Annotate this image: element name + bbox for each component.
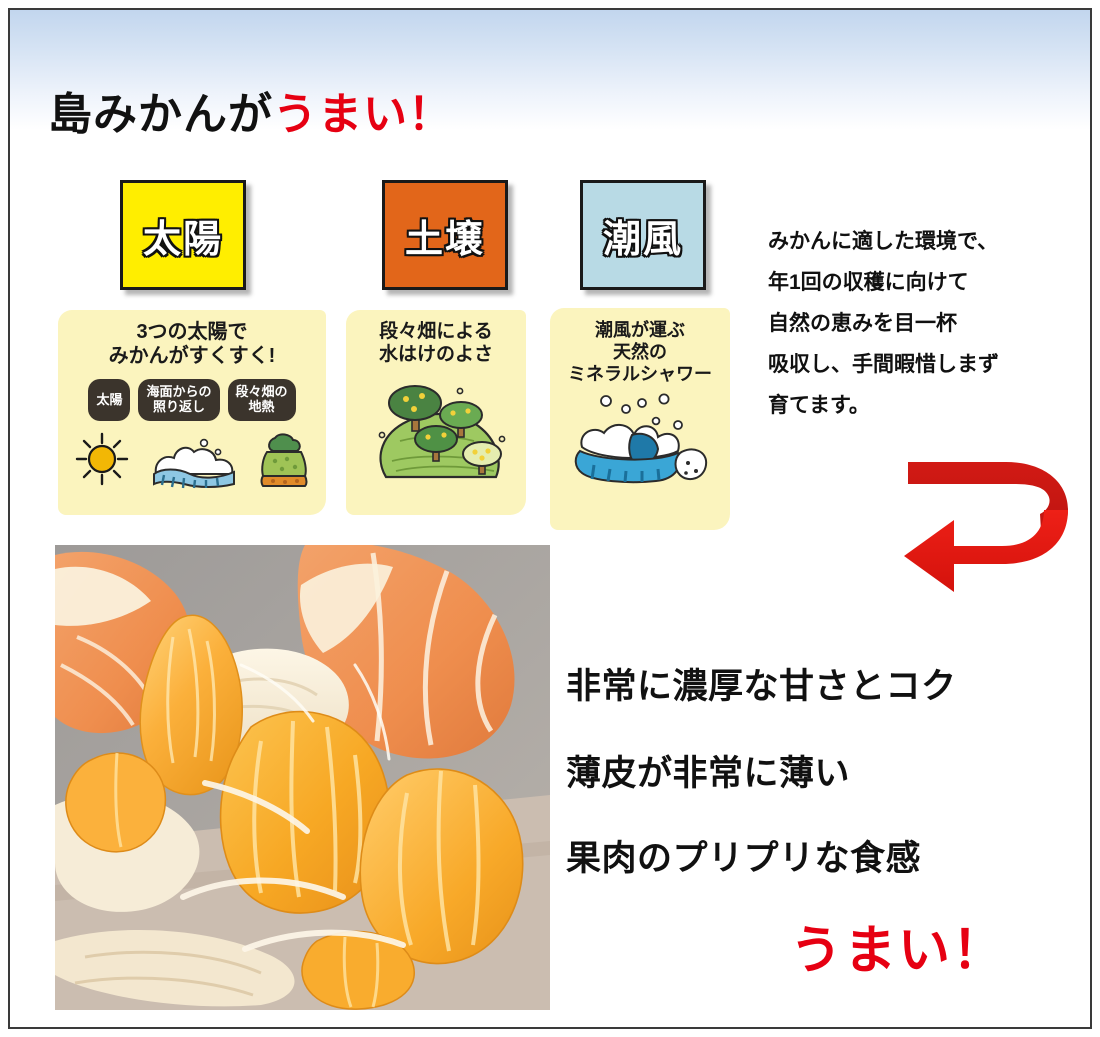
badge-shiokaze: 潮風 <box>580 180 706 290</box>
tagline-umai: うまい！ <box>790 908 1006 983</box>
description-text: みかんに適した環境で、 年1回の収穫に向けて 自然の恵みを目一杯 吸収し、手間暇… <box>768 222 1088 427</box>
wave-icon <box>148 428 240 495</box>
red-curved-arrow-icon <box>902 452 1078 602</box>
feature-line-1: 非常に濃厚な甘さとコク <box>566 658 957 709</box>
terraced-orchard-icon <box>356 365 516 490</box>
badge-taiyo: 太陽 <box>120 180 246 290</box>
icon-row-sun <box>58 429 326 495</box>
page-title: 島みかんがうまい！ <box>48 78 453 142</box>
info-card-soil: 段々畑による 水はけのよさ <box>346 310 526 515</box>
mikan-segments-photo <box>55 545 550 1010</box>
page-title-red: うまい！ <box>273 90 453 139</box>
feature-line-2: 薄皮が非常に薄い <box>566 745 850 796</box>
icon-row-wind <box>550 390 730 500</box>
icon-row-soil <box>346 370 526 490</box>
pill-taiyo: 太陽 <box>88 379 130 421</box>
info-card-sun: 3つの太陽で みかんがすくすく! 太陽 海面からの 照り返し 段々畑の 地熱 <box>58 310 326 515</box>
page-title-black: 島みかんが <box>48 90 273 139</box>
pill-dandanbatake-jinetsu: 段々畑の 地熱 <box>228 379 296 421</box>
info-card-soil-title: 段々畑による 水はけのよさ <box>346 310 526 366</box>
pill-row-sun: 太陽 海面からの 照り返し 段々畑の 地熱 <box>58 379 326 421</box>
feature-line-3: 果肉のプリプリな食感 <box>566 830 921 881</box>
promo-page: 島みかんがうまい！ 太陽 土壌 潮風 3つの太陽で みかんがすくすく! 太陽 海… <box>0 0 1100 1037</box>
page-frame: 島みかんがうまい！ 太陽 土壌 潮風 3つの太陽で みかんがすくすく! 太陽 海… <box>8 8 1092 1029</box>
sea-spray-wave-icon <box>560 385 720 500</box>
badge-dojo: 土壌 <box>382 180 508 290</box>
pill-kaimen-terikaeshi: 海面からの 照り返し <box>138 379 219 421</box>
badge-taiyo-label: 太陽 <box>143 208 223 263</box>
sun-icon <box>71 428 133 495</box>
badge-shiokaze-label: 潮風 <box>603 208 683 263</box>
terraced-field-icon <box>255 428 313 495</box>
info-card-wind: 潮風が運ぶ 天然の ミネラルシャワー <box>550 308 730 530</box>
info-card-wind-title: 潮風が運ぶ 天然の ミネラルシャワー <box>550 308 730 386</box>
info-card-sun-title: 3つの太陽で みかんがすくすく! <box>58 310 326 369</box>
badge-dojo-label: 土壌 <box>405 208 485 263</box>
